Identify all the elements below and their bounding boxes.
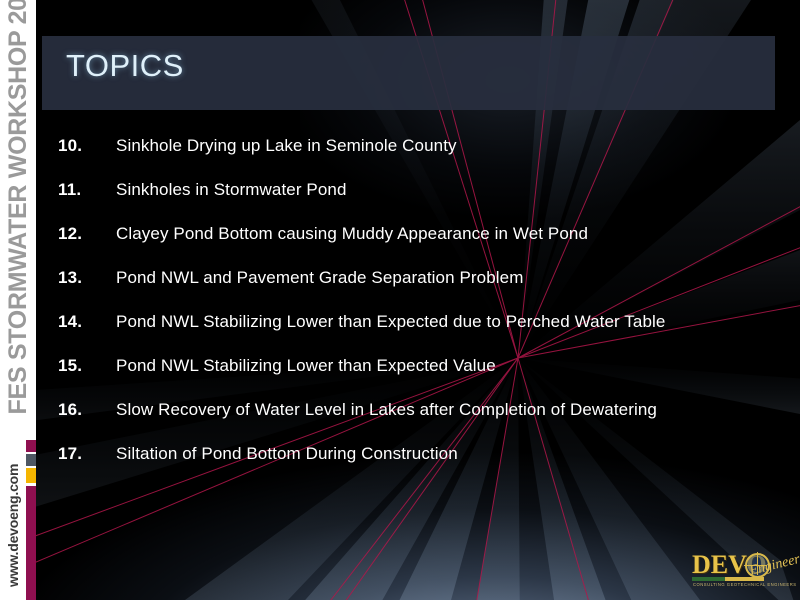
list-item-number: 11. xyxy=(58,177,116,202)
list-item-number: 14. xyxy=(58,309,116,334)
list-item-label: Siltation of Pond Bottom During Construc… xyxy=(116,441,458,466)
list-item: 15. Pond NWL Stabilizing Lower than Expe… xyxy=(58,353,758,378)
list-item-label: Sinkholes in Stormwater Pond xyxy=(116,177,347,202)
devo-engineering-logo: DEVO Engineering CONSULTING GEOTECHNICAL… xyxy=(690,544,794,596)
list-item: 11. Sinkholes in Stormwater Pond xyxy=(58,177,758,202)
logo-divider xyxy=(692,577,764,581)
list-item: 10. Sinkhole Drying up Lake in Seminole … xyxy=(58,133,758,158)
swatch-magenta xyxy=(26,440,36,452)
list-item-label: Sinkhole Drying up Lake in Seminole Coun… xyxy=(116,133,457,158)
swatch-magenta-bar xyxy=(26,486,36,600)
left-sidebar: FES STORMWATER WORKSHOP 2010 www.devoeng… xyxy=(0,0,36,600)
list-item: 17. Siltation of Pond Bottom During Cons… xyxy=(58,441,758,466)
list-item: 13. Pond NWL and Pavement Grade Separati… xyxy=(58,265,758,290)
presentation-slide: TOPICS 10. Sinkhole Drying up Lake in Se… xyxy=(0,0,800,600)
event-title-vertical: FES STORMWATER WORKSHOP 2010 xyxy=(0,0,36,466)
list-item-label: Slow Recovery of Water Level in Lakes af… xyxy=(116,397,657,422)
page-title: TOPICS xyxy=(66,48,184,84)
list-item-label: Pond NWL and Pavement Grade Separation P… xyxy=(116,265,523,290)
list-item-number: 15. xyxy=(58,353,116,378)
list-item-number: 12. xyxy=(58,221,116,246)
logo-tagline: CONSULTING GEOTECHNICAL ENGINEERS xyxy=(693,582,797,587)
list-item-label: Pond NWL Stabilizing Lower than Expected… xyxy=(116,309,665,334)
list-item: 16. Slow Recovery of Water Level in Lake… xyxy=(58,397,758,422)
list-item-number: 10. xyxy=(58,133,116,158)
list-item-label: Pond NWL Stabilizing Lower than Expected… xyxy=(116,353,496,378)
list-item-number: 17. xyxy=(58,441,116,466)
topics-list: 10. Sinkhole Drying up Lake in Seminole … xyxy=(58,133,758,485)
list-item-label: Clayey Pond Bottom causing Muddy Appeara… xyxy=(116,221,588,246)
list-item-number: 16. xyxy=(58,397,116,422)
swatch-gold xyxy=(26,468,36,483)
list-item: 14. Pond NWL Stabilizing Lower than Expe… xyxy=(58,309,758,334)
list-item: 12. Clayey Pond Bottom causing Muddy App… xyxy=(58,221,758,246)
swatch-gray xyxy=(26,454,36,466)
website-url-vertical[interactable]: www.devoeng.com xyxy=(1,447,25,587)
list-item-number: 13. xyxy=(58,265,116,290)
